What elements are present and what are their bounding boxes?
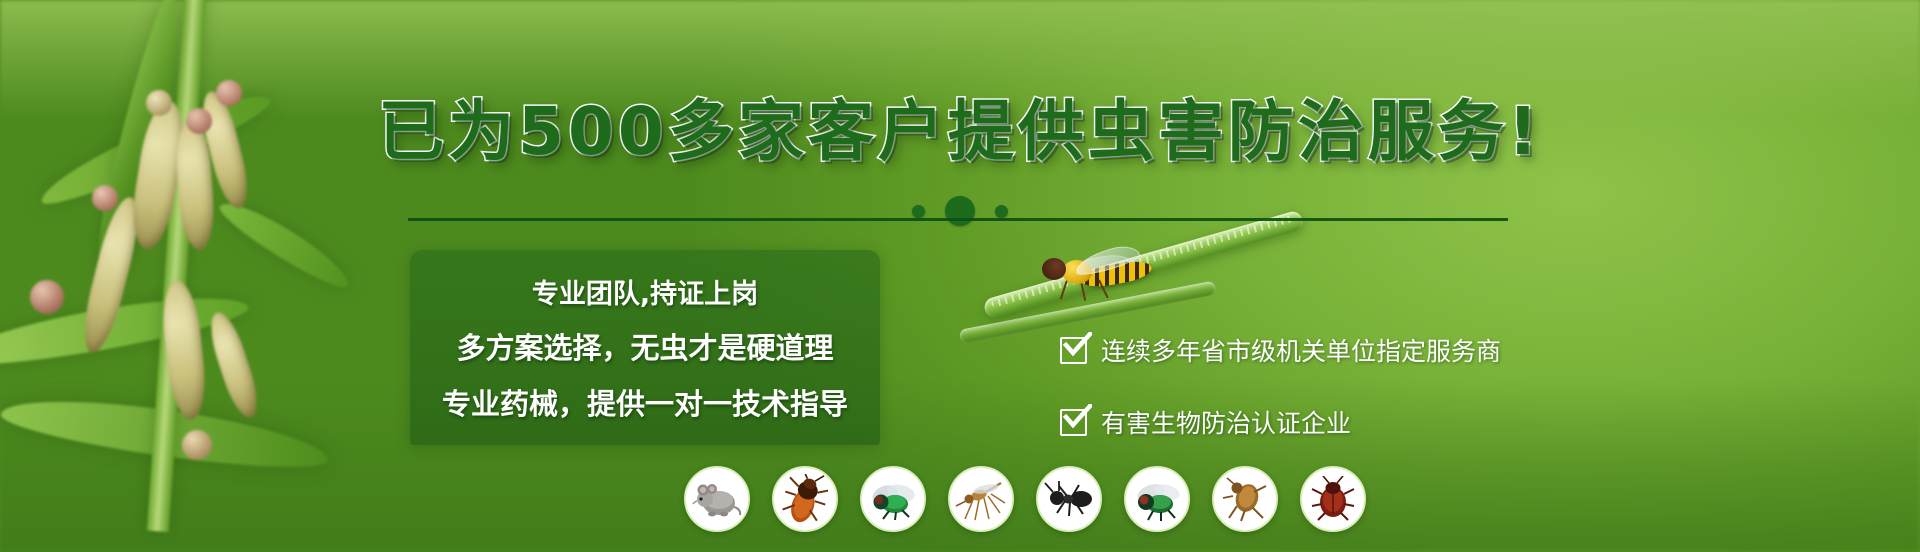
headline-text: 已为500多家客户提供虫害防治服务!: [378, 93, 1542, 170]
divider-rule: [408, 218, 1508, 221]
bedbug-icon[interactable]: [1300, 466, 1366, 532]
promo-line-1: 专业团队,持证上岗: [532, 272, 758, 311]
pest-icon-row: [684, 466, 1366, 532]
dot-large-center: [945, 196, 975, 226]
feature-item-1: 连续多年省市级机关单位指定服务商: [1060, 332, 1501, 368]
headline: 已为500多家客户提供虫害防治服务!: [0, 78, 1920, 174]
green-bottle-fly-icon[interactable]: [860, 466, 926, 532]
checkbox-checked-icon: [1060, 337, 1087, 364]
promo-line-2: 多方案选择，无虫才是硬道理: [456, 325, 833, 367]
feature-label-2: 有害生物防治认证企业: [1101, 404, 1351, 440]
cockroach-icon[interactable]: [772, 466, 838, 532]
decorative-dots: [0, 196, 1920, 226]
feature-label-1: 连续多年省市级机关单位指定服务商: [1101, 332, 1501, 368]
promo-line-3: 专业药械，提供一对一技术指导: [442, 381, 848, 423]
housefly-icon[interactable]: [1124, 466, 1190, 532]
dot-small-left: [912, 205, 925, 218]
feature-list: 连续多年省市级机关单位指定服务商 有害生物防治认证企业: [1060, 332, 1501, 440]
mosquito-icon[interactable]: [948, 466, 1014, 532]
flea-icon[interactable]: [1212, 466, 1278, 532]
dot-small-right: [995, 205, 1008, 218]
promo-text-block: 专业团队,持证上岗 多方案选择，无虫才是硬道理 专业药械，提供一对一技术指导: [410, 250, 880, 445]
checkbox-checked-icon: [1060, 409, 1087, 436]
feature-item-2: 有害生物防治认证企业: [1060, 404, 1501, 440]
promotional-banner: 已为500多家客户提供虫害防治服务! 专业团队,持证上岗 多方案选择，无虫才是硬…: [0, 0, 1920, 552]
mouse-icon[interactable]: [684, 466, 750, 532]
ant-icon[interactable]: [1036, 466, 1102, 532]
hoverfly-image: [1040, 248, 1160, 304]
